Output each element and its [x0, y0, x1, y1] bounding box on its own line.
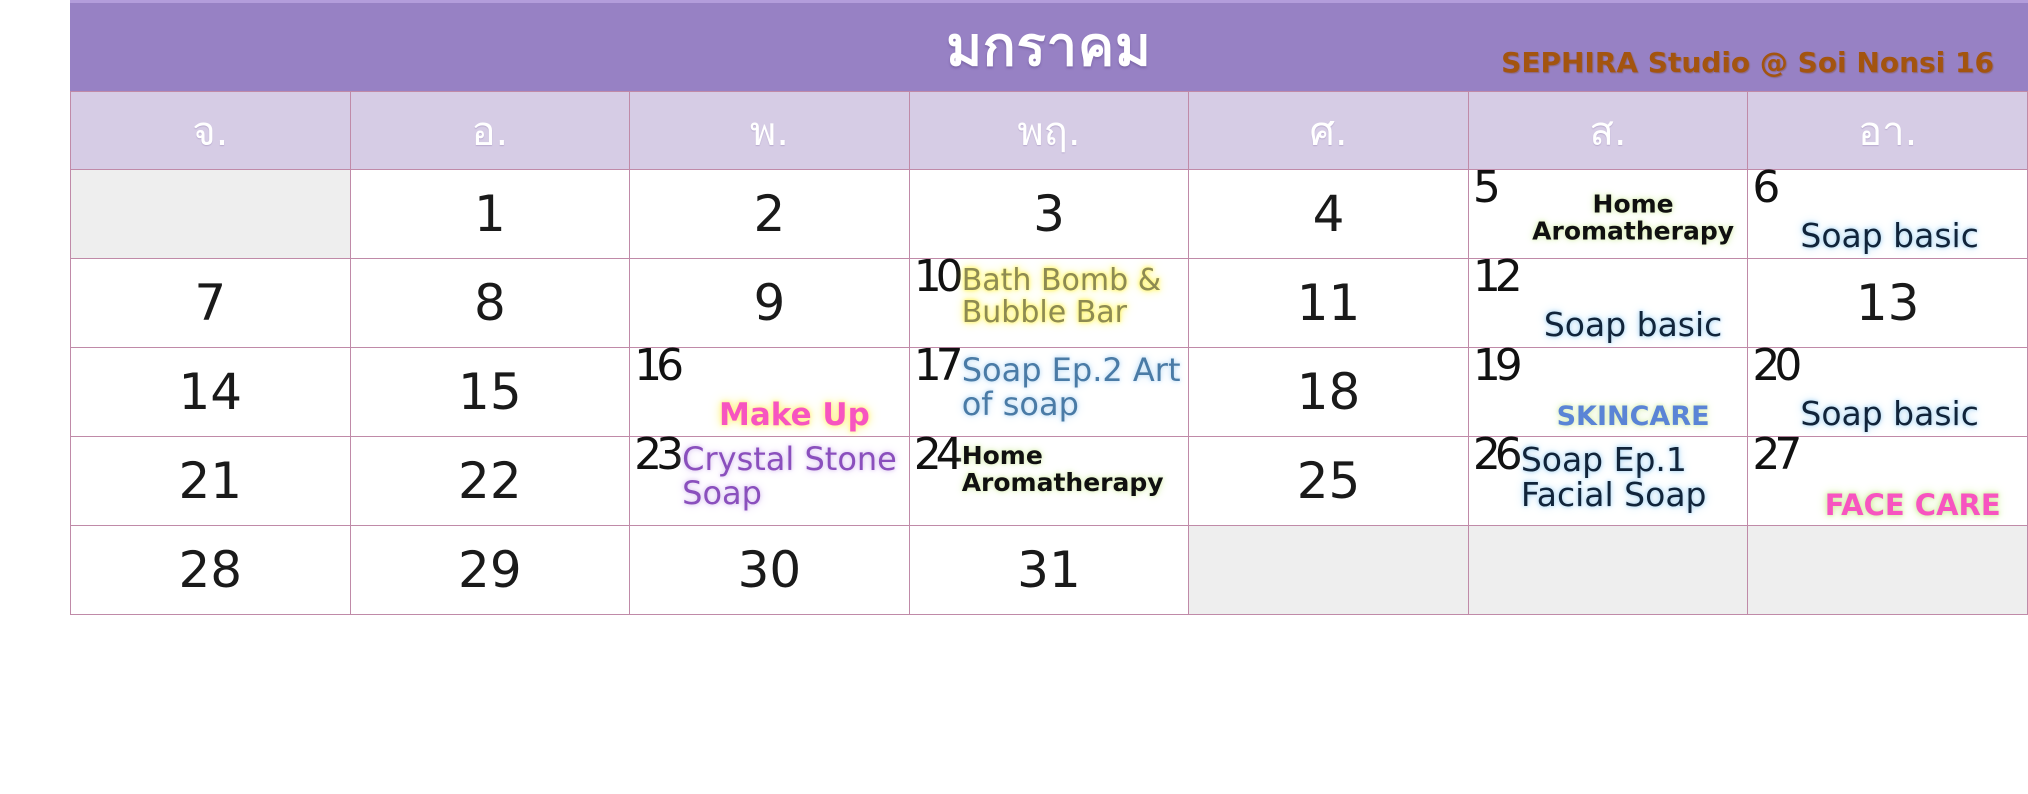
event-label[interactable]: Soap basic	[1800, 219, 2025, 254]
weekday-header-5: ส.	[1468, 92, 1748, 170]
day-number: 26	[1473, 433, 1517, 477]
day-content: 16Make Up	[630, 348, 909, 436]
day-content: 24Home Aromatherapy	[910, 437, 1189, 525]
weekday-header-3: พฤ.	[909, 92, 1189, 170]
calendar-week-row: 212223Crystal Stone Soap24Home Aromather…	[71, 437, 2028, 526]
calendar-day-cell[interactable]: 10Bath Bomb & Bubble Bar	[909, 259, 1189, 348]
day-number: 22	[351, 437, 630, 525]
day-content: 12Soap basic	[1469, 259, 1748, 347]
calendar-day-cell[interactable]: 7	[71, 259, 351, 348]
weekday-label: อา.	[1858, 109, 1917, 155]
event-label[interactable]: Home Aromatherapy	[962, 443, 1187, 496]
day-number: 24	[914, 433, 958, 477]
weekday-header-4: ศ.	[1189, 92, 1469, 170]
day-number: 30	[630, 526, 909, 614]
day-number: 8	[351, 259, 630, 347]
day-number: 7	[71, 259, 350, 347]
calendar-day-cell[interactable]: 8	[350, 259, 630, 348]
weekday-label: ส.	[1590, 109, 1627, 155]
day-number: 12	[1473, 255, 1517, 299]
calendar-day-cell[interactable]: 24Home Aromatherapy	[909, 437, 1189, 526]
day-number: 4	[1189, 170, 1468, 258]
day-number: 14	[71, 348, 350, 436]
calendar-week-row: 12345Home Aromatherapy6Soap basic	[71, 170, 2028, 259]
calendar-cell-empty	[71, 170, 351, 259]
calendar-day-cell[interactable]: 28	[71, 526, 351, 615]
weekday-header-2: พ.	[630, 92, 910, 170]
weekday-label: จ.	[192, 109, 228, 155]
calendar-day-cell[interactable]: 21	[71, 437, 351, 526]
weekday-label: พฤ.	[1017, 109, 1080, 155]
calendar-day-cell[interactable]: 3	[909, 170, 1189, 259]
day-number: 6	[1752, 166, 1774, 210]
day-number: 15	[351, 348, 630, 436]
day-number: 1	[351, 170, 630, 258]
day-number: 21	[71, 437, 350, 525]
day-number: 11	[1189, 259, 1468, 347]
event-label[interactable]: Home Aromatherapy	[1521, 192, 1746, 245]
day-number: 27	[1752, 433, 1796, 477]
day-number: 31	[910, 526, 1189, 614]
calendar-day-cell[interactable]: 15	[350, 348, 630, 437]
day-content: 17Soap Ep.2 Art of soap	[910, 348, 1189, 436]
studio-label: SEPHIRA Studio @ Soi Nonsi 16	[1501, 46, 1994, 79]
event-label[interactable]: SKINCARE	[1521, 403, 1746, 432]
day-number: 29	[351, 526, 630, 614]
event-label[interactable]: Soap basic	[1521, 308, 1746, 343]
calendar-day-cell[interactable]: 9	[630, 259, 910, 348]
weekday-header-row: จ.อ.พ.พฤ.ศ.ส.อา.	[71, 92, 2028, 170]
weekday-header-0: จ.	[71, 92, 351, 170]
event-label[interactable]: Make Up	[682, 399, 907, 432]
day-number: 5	[1473, 166, 1495, 210]
day-content: 26Soap Ep.1 Facial Soap	[1469, 437, 1748, 525]
calendar-day-cell[interactable]: 30	[630, 526, 910, 615]
calendar-day-cell[interactable]: 16Make Up	[630, 348, 910, 437]
month-title: มกราคม	[946, 20, 1151, 74]
calendar-cell-empty	[1748, 526, 2028, 615]
calendar-cell-empty	[1468, 526, 1748, 615]
event-label[interactable]: Bath Bomb & Bubble Bar	[962, 265, 1187, 329]
calendar-day-cell[interactable]: 27FACE CARE	[1748, 437, 2028, 526]
event-label[interactable]: Soap Ep.2 Art of soap	[962, 354, 1187, 422]
calendar-day-cell[interactable]: 13	[1748, 259, 2028, 348]
calendar-day-cell[interactable]: 22	[350, 437, 630, 526]
event-label[interactable]: Soap basic	[1800, 397, 2025, 432]
day-number: 2	[630, 170, 909, 258]
calendar-day-cell[interactable]: 2	[630, 170, 910, 259]
calendar-day-cell[interactable]: 14	[71, 348, 351, 437]
calendar-cell-empty	[1189, 526, 1469, 615]
calendar-day-cell[interactable]: 1	[350, 170, 630, 259]
calendar-day-cell[interactable]: 6Soap basic	[1748, 170, 2028, 259]
calendar-day-cell[interactable]: 17Soap Ep.2 Art of soap	[909, 348, 1189, 437]
event-label[interactable]: Crystal Stone Soap	[682, 443, 907, 511]
calendar-week-row: 28293031	[71, 526, 2028, 615]
day-number: 23	[634, 433, 678, 477]
calendar-day-cell[interactable]: 26Soap Ep.1 Facial Soap	[1468, 437, 1748, 526]
day-number: 17	[914, 344, 958, 388]
calendar-day-cell[interactable]: 29	[350, 526, 630, 615]
calendar-day-cell[interactable]: 20Soap basic	[1748, 348, 2028, 437]
day-number: 3	[910, 170, 1189, 258]
day-number: 28	[71, 526, 350, 614]
calendar-day-cell[interactable]: 19SKINCARE	[1468, 348, 1748, 437]
day-content: 20Soap basic	[1748, 348, 2027, 436]
day-number: 13	[1748, 259, 2027, 347]
day-content: 5Home Aromatherapy	[1469, 170, 1748, 258]
day-content: 27FACE CARE	[1748, 437, 2027, 525]
event-label[interactable]: FACE CARE	[1800, 490, 2025, 521]
calendar-week-row: 141516Make Up17Soap Ep.2 Art of soap1819…	[71, 348, 2028, 437]
calendar-day-cell[interactable]: 11	[1189, 259, 1469, 348]
calendar-day-cell[interactable]: 5Home Aromatherapy	[1468, 170, 1748, 259]
weekday-header-6: อา.	[1748, 92, 2028, 170]
day-number: 10	[914, 255, 958, 299]
calendar-grid: จ.อ.พ.พฤ.ศ.ส.อา. 12345Home Aromatherapy6…	[70, 91, 2028, 615]
weekday-label: พ.	[750, 109, 789, 155]
weekday-header-1: อ.	[350, 92, 630, 170]
day-content: 6Soap basic	[1748, 170, 2027, 258]
day-number: 16	[634, 344, 678, 388]
calendar-day-cell[interactable]: 23Crystal Stone Soap	[630, 437, 910, 526]
calendar-day-cell[interactable]: 25	[1189, 437, 1469, 526]
weekday-label: อ.	[471, 109, 508, 155]
calendar-day-cell[interactable]: 31	[909, 526, 1189, 615]
day-content: 23Crystal Stone Soap	[630, 437, 909, 525]
calendar-day-cell[interactable]: 12Soap basic	[1468, 259, 1748, 348]
calendar-day-cell[interactable]: 4	[1189, 170, 1469, 259]
calendar-title-bar: มกราคม SEPHIRA Studio @ Soi Nonsi 16	[70, 0, 2028, 91]
event-label[interactable]: Soap Ep.1 Facial Soap	[1521, 443, 1746, 513]
day-number: 19	[1473, 344, 1517, 388]
day-number: 25	[1189, 437, 1468, 525]
day-number: 9	[630, 259, 909, 347]
day-number: 18	[1189, 348, 1468, 436]
weekday-label: ศ.	[1309, 109, 1347, 155]
day-content: 10Bath Bomb & Bubble Bar	[910, 259, 1189, 347]
day-number: 20	[1752, 344, 1796, 388]
calendar-week-row: 78910Bath Bomb & Bubble Bar1112Soap basi…	[71, 259, 2028, 348]
calendar: มกราคม SEPHIRA Studio @ Soi Nonsi 16 จ.อ…	[70, 0, 2028, 794]
calendar-day-cell[interactable]: 18	[1189, 348, 1469, 437]
day-content: 19SKINCARE	[1469, 348, 1748, 436]
